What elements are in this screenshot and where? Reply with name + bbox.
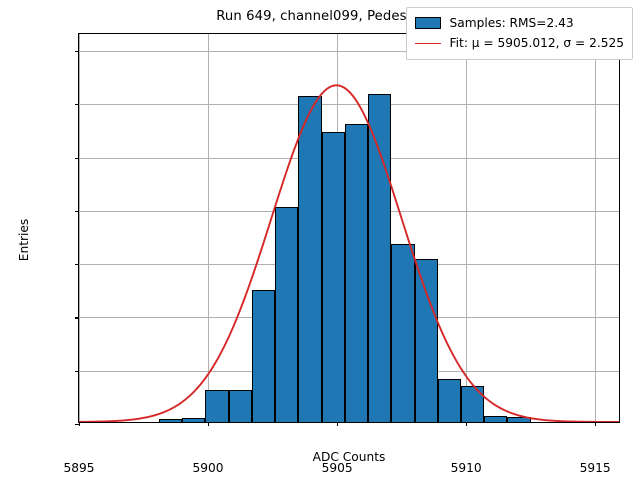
y-axis-label: Entries <box>17 219 31 261</box>
histogram-bar <box>322 132 345 422</box>
x-tick-label: 5905 <box>322 461 353 475</box>
gridline-vertical <box>466 34 467 422</box>
y-tick-mark <box>75 264 79 265</box>
plot-area: 02505007501000125015001750 5895590059055… <box>78 33 620 423</box>
x-tick-mark <box>79 422 80 426</box>
histogram-bar <box>182 418 205 422</box>
y-tick-mark <box>75 104 79 105</box>
x-tick-mark <box>208 422 209 426</box>
y-tick-mark <box>75 158 79 159</box>
histogram-bar <box>275 207 298 422</box>
y-tick-mark <box>75 51 79 52</box>
histogram-bar <box>159 419 182 422</box>
histogram-bar <box>484 416 507 422</box>
histogram-bar <box>229 390 252 422</box>
x-tick-label: 5915 <box>580 461 611 475</box>
y-tick-mark <box>75 317 79 318</box>
gridline-vertical <box>79 34 80 422</box>
histogram-bar <box>345 124 368 422</box>
histogram-bar <box>507 417 530 422</box>
legend-patch-icon <box>415 17 441 29</box>
x-tick-mark <box>337 422 338 426</box>
histogram-bar <box>252 290 275 422</box>
histogram-bar <box>298 96 321 422</box>
legend-item-samples[interactable]: Samples: RMS=2.43 <box>415 13 624 33</box>
legend-line-icon <box>415 43 441 44</box>
histogram-bar <box>205 390 228 422</box>
gridline-horizontal <box>79 104 619 105</box>
figure-canvas: Run 649, channel099, Pedestal Entries AD… <box>0 0 640 480</box>
legend-item-fit[interactable]: Fit: μ = 5905.012, σ = 2.525 <box>415 33 624 53</box>
plot-inner <box>79 34 619 422</box>
histogram-bar <box>368 94 391 422</box>
x-tick-label: 5910 <box>451 461 482 475</box>
y-tick-mark <box>75 211 79 212</box>
legend-label-samples: Samples: RMS=2.43 <box>450 16 574 30</box>
histogram-bar <box>415 259 438 422</box>
legend-label-fit: Fit: μ = 5905.012, σ = 2.525 <box>450 36 624 50</box>
x-tick-label: 5900 <box>193 461 224 475</box>
histogram-bar <box>461 386 484 422</box>
chart-legend[interactable]: Samples: RMS=2.43 Fit: μ = 5905.012, σ =… <box>406 7 633 60</box>
histogram-bar <box>391 244 414 422</box>
gridline-vertical <box>595 34 596 422</box>
x-tick-mark <box>466 422 467 426</box>
y-tick-mark <box>75 371 79 372</box>
x-tick-label: 5895 <box>63 461 94 475</box>
x-tick-mark <box>595 422 596 426</box>
histogram-bar <box>438 379 461 422</box>
gridline-vertical <box>208 34 209 422</box>
